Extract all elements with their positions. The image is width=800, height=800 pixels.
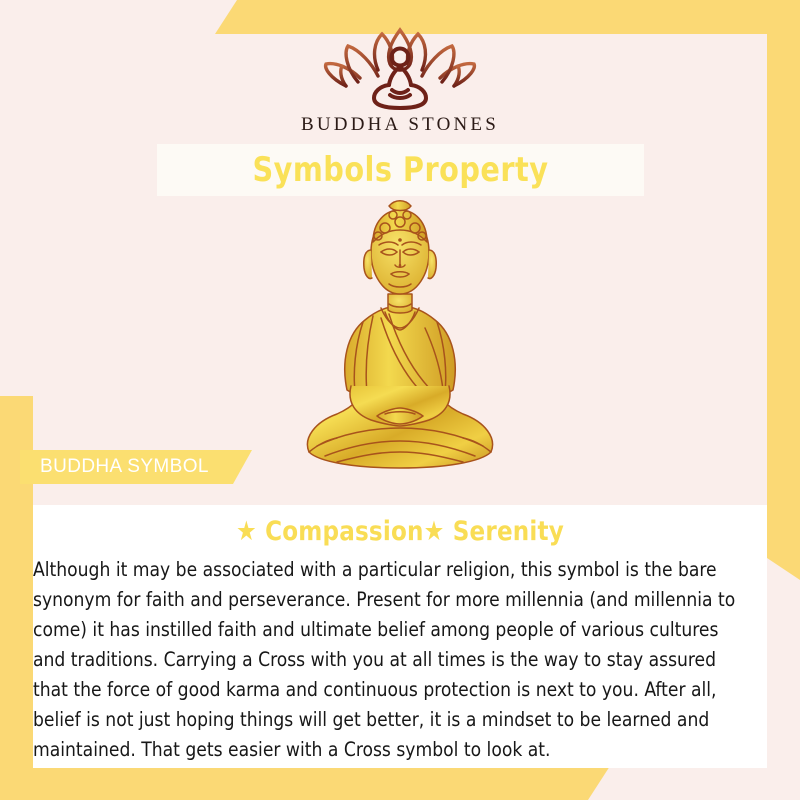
brand-name: BUDDHA STONES xyxy=(301,114,499,136)
content-subtitle: ★ Compassion★ Serenity xyxy=(51,505,748,547)
promo-graphic-page: BUDDHA STONES Symbols Property xyxy=(0,0,800,800)
brand-header: BUDDHA STONES xyxy=(0,24,800,136)
decorative-band-bottom xyxy=(0,766,610,800)
lotus-meditation-figure-icon xyxy=(310,24,490,110)
buddha-symbol-ribbon: BUDDHA SYMBOL xyxy=(20,450,252,484)
content-paragraph: Although it may be associated with a par… xyxy=(33,547,756,765)
content-sheet: ★ Compassion★ Serenity Although it may b… xyxy=(33,505,767,768)
seated-golden-buddha-statue-icon xyxy=(285,200,515,490)
page-title: Symbols Property xyxy=(252,150,548,190)
title-banner: Symbols Property xyxy=(157,144,644,196)
ribbon-label: BUDDHA SYMBOL xyxy=(20,456,209,478)
